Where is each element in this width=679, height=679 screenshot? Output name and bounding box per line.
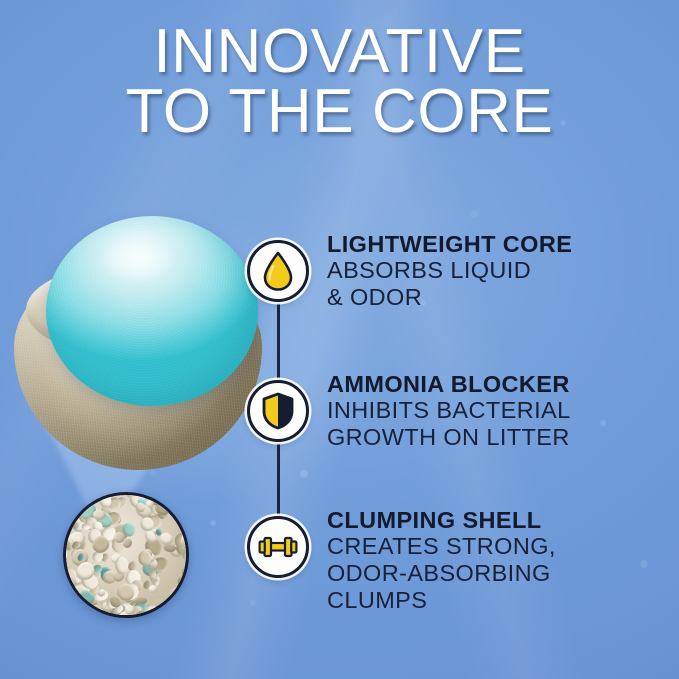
- feature-body-3: CREATES STRONG, ODOR-ABSORBING CLUMPS: [327, 533, 556, 613]
- page-title: INNOVATIVE TO THE CORE: [0, 22, 679, 142]
- feature-body-3-line-3: CLUMPS: [327, 587, 556, 614]
- feature-title-2: AMMONIA BLOCKER: [327, 371, 571, 397]
- feature-body-3-line-2: ODOR-ABSORBING: [327, 560, 556, 587]
- feature-body-1: ABSORBS LIQUID & ODOR: [327, 257, 572, 311]
- feature-icon-badge-3[interactable]: [247, 516, 309, 578]
- page-title-line-2: TO THE CORE: [0, 82, 679, 142]
- shield-icon: [261, 392, 295, 430]
- dumbbell-icon: [258, 532, 298, 562]
- feature-body-2: INHIBITS BACTERIAL GROWTH ON LITTER: [327, 397, 571, 451]
- feature-body-1-line-1: ABSORBS LIQUID: [327, 257, 572, 284]
- connector-line-2: [277, 442, 280, 518]
- feature-icon-badge-1[interactable]: [247, 240, 309, 302]
- feature-body-3-line-1: CREATES STRONG,: [327, 533, 556, 560]
- droplet-icon: [261, 251, 295, 291]
- feature-body-1-line-2: & ODOR: [327, 284, 572, 311]
- core-highlight: [80, 227, 194, 292]
- product-illustration: [0, 210, 280, 540]
- feature-body-2-line-2: GROWTH ON LITTER: [327, 424, 571, 451]
- feature-block-3: CLUMPING SHELL CREATES STRONG, ODOR-ABSO…: [327, 507, 556, 614]
- litter-granules-magnifier: [63, 492, 189, 618]
- feature-block-1: LIGHTWEIGHT CORE ABSORBS LIQUID & ODOR: [327, 231, 572, 311]
- feature-icon-badge-2[interactable]: [247, 380, 309, 442]
- feature-block-2: AMMONIA BLOCKER INHIBITS BACTERIAL GROWT…: [327, 371, 571, 451]
- litter-granules: [63, 492, 189, 618]
- page-title-line-1: INNOVATIVE: [153, 17, 525, 86]
- lightweight-core-inner: [46, 216, 258, 406]
- feature-body-2-line-1: INHIBITS BACTERIAL: [327, 397, 571, 424]
- feature-title-3: CLUMPING SHELL: [327, 507, 556, 533]
- feature-title-1: LIGHTWEIGHT CORE: [327, 231, 572, 257]
- connector-line-1: [277, 302, 280, 380]
